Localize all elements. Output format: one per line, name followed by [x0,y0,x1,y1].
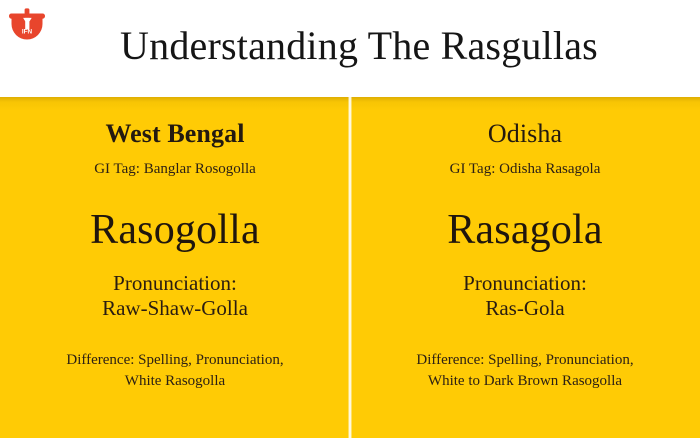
pronunciation-block-west-bengal: Pronunciation: Raw-Shaw-Golla [102,271,248,321]
difference-block-west-bengal: Difference: Spelling, Pronunciation, Whi… [56,350,293,392]
difference-line-1-west-bengal: Difference: Spelling, Pronunciation, [66,350,283,371]
comparison-band: West Bengal GI Tag: Banglar Rosogolla Ra… [0,97,700,438]
difference-line-2-odisha: White to Dark Brown Rasogolla [416,371,633,392]
infographic-root: IFN Understanding The Rasgullas West Ben… [0,0,700,438]
comparison-column-odisha: Odisha GI Tag: Odisha Rasagola Rasagola … [350,97,700,438]
state-heading-west-bengal: West Bengal [105,119,244,149]
pronunciation-block-odisha: Pronunciation: Ras-Gola [463,271,587,321]
gi-tag-odisha: GI Tag: Odisha Rasagola [450,160,601,179]
page-title: Understanding The Rasgullas [0,0,700,92]
difference-line-2-west-bengal: White Rasogolla [66,371,283,392]
difference-line-1-odisha: Difference: Spelling, Pronunciation, [416,350,633,371]
column-divider [348,97,352,438]
pronunciation-value-west-bengal: Raw-Shaw-Golla [102,296,248,321]
state-heading-odisha: Odisha [488,119,562,149]
pronunciation-label-odisha: Pronunciation: [463,271,587,296]
comparison-column-west-bengal: West Bengal GI Tag: Banglar Rosogolla Ra… [0,97,350,438]
difference-block-odisha: Difference: Spelling, Pronunciation, Whi… [406,350,643,392]
dish-name-odisha: Rasagola [447,206,603,254]
pronunciation-label-west-bengal: Pronunciation: [102,271,248,296]
pronunciation-value-odisha: Ras-Gola [463,296,587,321]
gi-tag-west-bengal: GI Tag: Banglar Rosogolla [94,160,256,179]
dish-name-west-bengal: Rasogolla [90,206,260,254]
header-bar: IFN Understanding The Rasgullas [0,0,700,97]
